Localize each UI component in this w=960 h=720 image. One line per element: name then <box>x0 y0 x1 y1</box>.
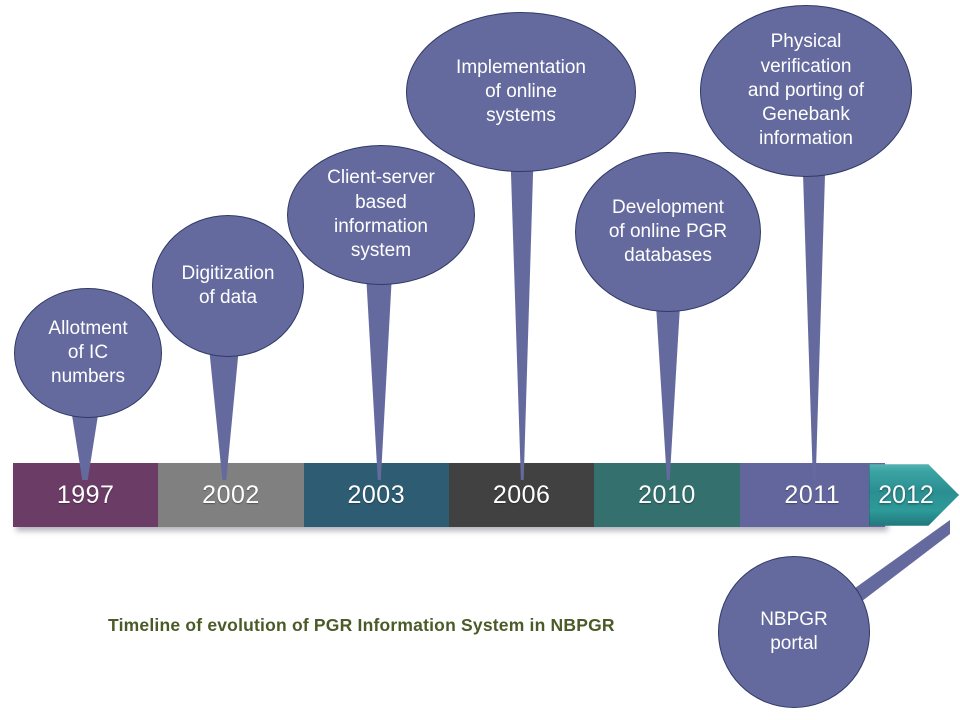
milestone-bubble-2012[interactable]: NBPGR portal <box>718 556 870 708</box>
bubble-tail-2002 <box>208 350 240 480</box>
timeline-segment-2011[interactable]: 2011 <box>740 463 885 527</box>
milestone-label-2006: Implementation of online systems <box>456 56 586 129</box>
milestone-label-1997: Allotment of IC numbers <box>48 317 127 390</box>
bubble-tail-2010 <box>654 300 682 480</box>
diagram-caption: Timeline of evolution of PGR Information… <box>108 615 615 636</box>
timeline-bar: 1997 2002 2003 2006 2010 2011 <box>13 463 885 527</box>
timeline-segment-2002[interactable]: 2002 <box>158 463 303 527</box>
timeline-year-2003: 2003 <box>348 481 406 510</box>
milestone-bubble-1997[interactable]: Allotment of IC numbers <box>14 288 162 418</box>
milestone-label-2012: NBPGR portal <box>760 608 828 657</box>
milestone-bubble-2006[interactable]: Implementation of online systems <box>406 12 636 172</box>
milestone-label-2011: Physical verification and porting of Gen… <box>748 30 864 152</box>
milestone-bubble-2003[interactable]: Client-server based information system <box>287 145 475 285</box>
milestone-bubble-2002[interactable]: Digitization of data <box>152 215 304 357</box>
timeline-year-2006: 2006 <box>493 481 551 510</box>
timeline-segment-2003[interactable]: 2003 <box>304 463 449 527</box>
bubble-tail-2003 <box>364 270 394 480</box>
timeline-segment-2012-arrow[interactable]: 2012 <box>869 460 959 530</box>
timeline-year-2011: 2011 <box>784 481 840 510</box>
timeline-year-2010: 2010 <box>638 481 696 510</box>
timeline-diagram: Allotment of IC numbers Digitization of … <box>0 0 960 720</box>
timeline-year-2002: 2002 <box>202 481 260 510</box>
milestone-bubble-2010[interactable]: Development of online PGR databases <box>575 152 761 312</box>
timeline-year-2012: 2012 <box>869 460 959 530</box>
bubble-tail-2011 <box>800 150 828 480</box>
milestone-label-2002: Digitization of data <box>182 262 275 311</box>
timeline-year-1997: 1997 <box>57 481 115 510</box>
milestone-label-2003: Client-server based information system <box>327 166 435 263</box>
bubble-tail-2006 <box>508 150 536 480</box>
milestone-label-2010: Development of online PGR databases <box>609 196 727 269</box>
milestone-bubble-2011[interactable]: Physical verification and porting of Gen… <box>700 5 912 177</box>
